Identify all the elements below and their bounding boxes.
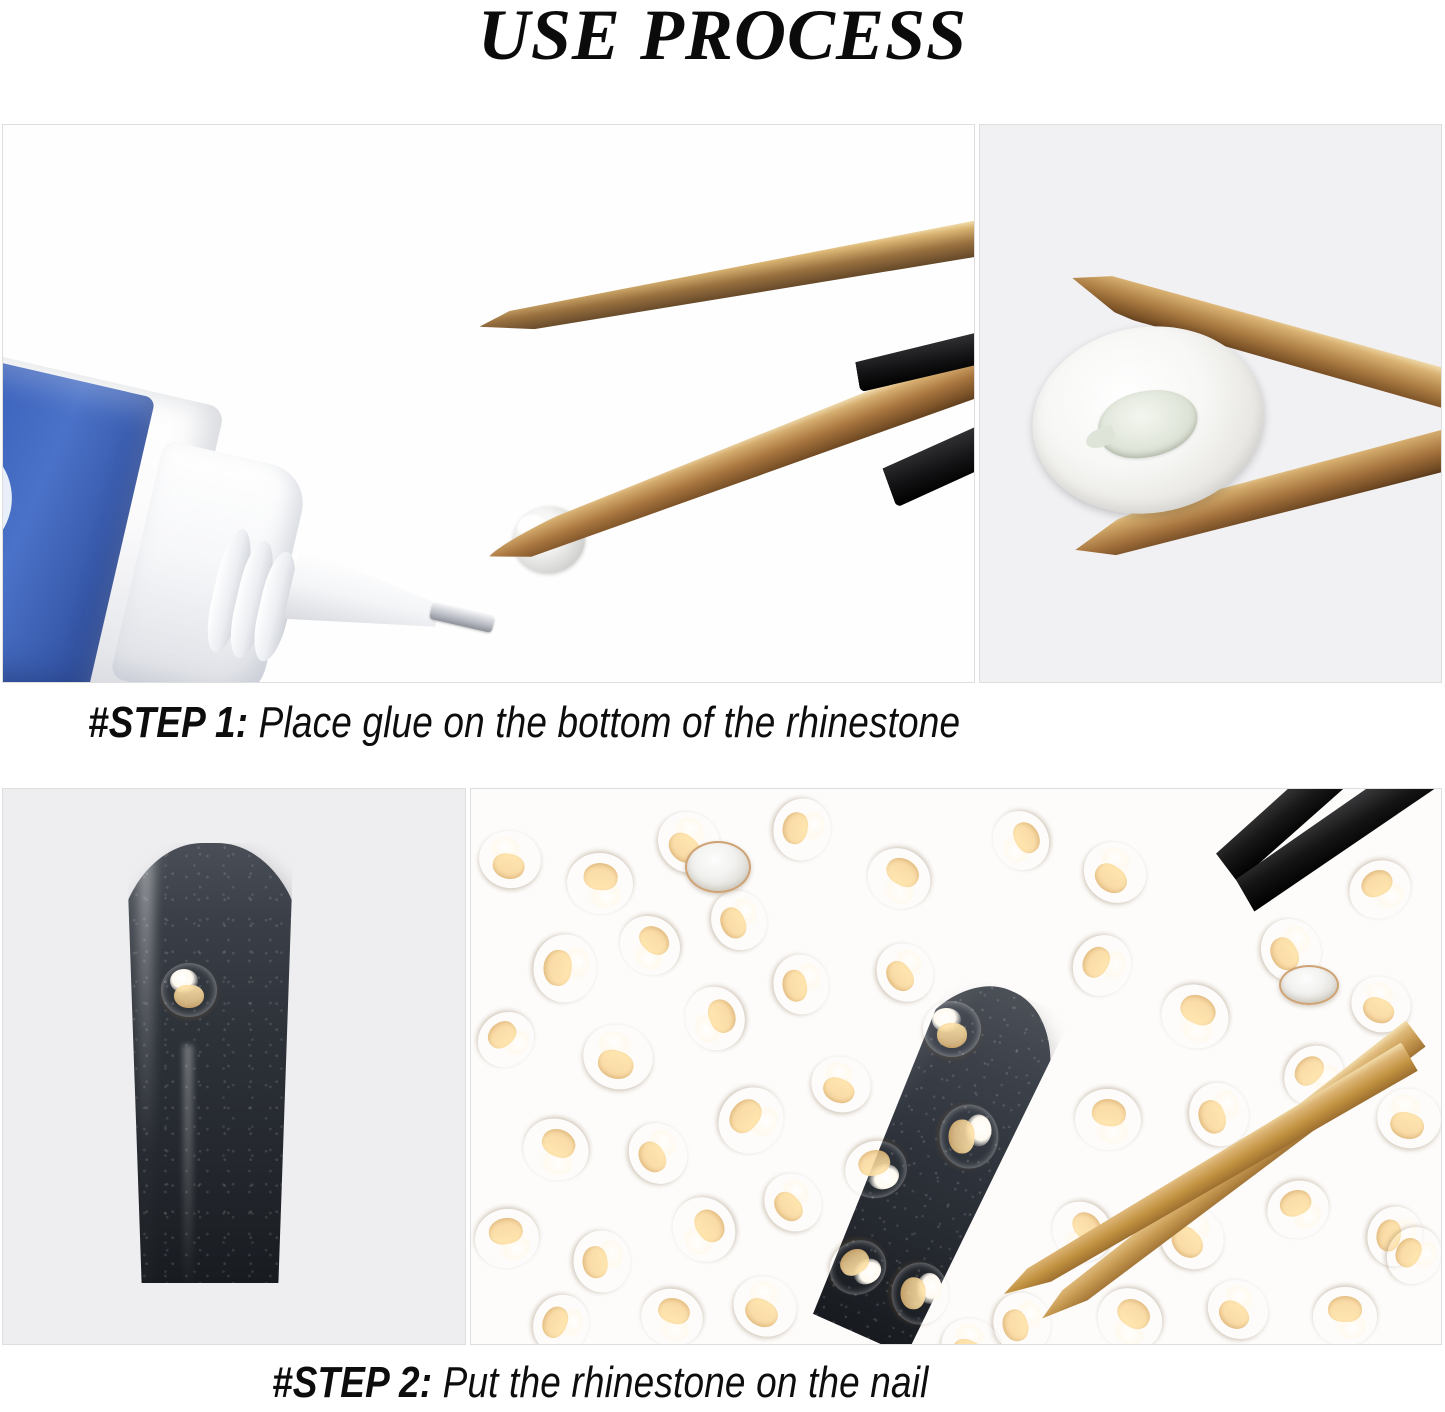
placing-tweezer-arm-lower	[994, 1042, 1421, 1312]
scattered-rhinestone	[470, 1001, 545, 1079]
scattered-rhinestone	[524, 1286, 597, 1345]
step-1-body: Place glue on the bottom of the rhinesto…	[248, 698, 960, 747]
scattered-rhinestone	[702, 882, 777, 959]
scattered-rhinestone	[1339, 850, 1421, 929]
scattered-rhinestone	[865, 932, 945, 1013]
scattered-rhinestone	[856, 837, 942, 921]
rhinestone-flat-side-up	[685, 841, 751, 893]
label-letter-o	[2, 424, 24, 571]
scattered-rhinestone	[513, 1108, 598, 1191]
scattered-rhinestone	[1072, 830, 1158, 915]
scattered-rhinestone	[1196, 1268, 1280, 1345]
scattered-rhinestone	[890, 1262, 949, 1326]
step-1-caption: #STEP 1: Place glue on the bottom of the…	[88, 698, 960, 748]
scattered-rhinestone	[723, 1265, 808, 1345]
scattered-rhinestone	[470, 1204, 543, 1273]
scattered-rhinestone	[768, 949, 834, 1019]
scattered-rhinestone	[564, 850, 636, 918]
scattered-rhinestone	[752, 1162, 833, 1243]
scattered-rhinestone	[768, 793, 837, 865]
tweezer-arm-upper	[475, 214, 975, 347]
step-2-panel-row	[2, 788, 1442, 1345]
step-1-label: #STEP 1:	[88, 698, 248, 747]
press-on-nail	[115, 843, 305, 1283]
scattered-rhinestone	[676, 978, 753, 1058]
scattered-rhinestone	[940, 1105, 999, 1169]
scattered-rhinestone	[474, 825, 546, 894]
nail-glitter-texture	[115, 843, 305, 1283]
glue-bottle	[2, 341, 439, 683]
scattered-rhinestone	[803, 1048, 879, 1121]
applied-rhinestone	[161, 963, 217, 1017]
rhinestone-flat-side-up	[1279, 965, 1339, 1005]
scattered-rhinestone	[983, 801, 1060, 880]
rhinestone-scatter-field	[471, 789, 1441, 1344]
scattered-rhinestone	[1259, 1171, 1338, 1247]
glue-bottle-and-tweezers-photo	[2, 124, 975, 683]
scattered-rhinestone	[1151, 973, 1240, 1059]
scattered-rhinestone	[570, 1228, 633, 1296]
scattered-rhinestone	[608, 904, 692, 988]
scattered-rhinestone	[1313, 1287, 1377, 1345]
scattered-rhinestone	[617, 1112, 698, 1195]
step-2-label: #STEP 2:	[272, 1358, 432, 1407]
step-1-panel-row	[2, 124, 1442, 683]
placing-rhinestone-photo	[470, 788, 1442, 1345]
scattered-rhinestone	[705, 1074, 797, 1166]
step-2-caption: #STEP 2: Put the rhinestone on the nail	[272, 1358, 929, 1408]
rhinestone-being-placed	[923, 1001, 981, 1057]
rhinestone-closeup-scene	[980, 125, 1441, 682]
rhinestone-with-glue-photo	[979, 124, 1442, 683]
scattered-rhinestone	[1071, 1085, 1145, 1155]
glue-bottle-metal-tip	[429, 602, 495, 633]
scattered-rhinestone	[660, 1185, 747, 1274]
step-2-body: Put the rhinestone on the nail	[432, 1358, 928, 1407]
finished-nail-photo	[2, 788, 466, 1345]
scattered-rhinestone	[634, 1281, 711, 1345]
finished-nail-scene	[3, 789, 465, 1344]
scattered-rhinestone	[1062, 924, 1142, 1006]
scattered-rhinestone	[1370, 1081, 1442, 1155]
scattered-rhinestone	[531, 932, 600, 1005]
scattered-rhinestone	[575, 1016, 661, 1098]
page-title: USE PROCESS	[0, 0, 1445, 77]
